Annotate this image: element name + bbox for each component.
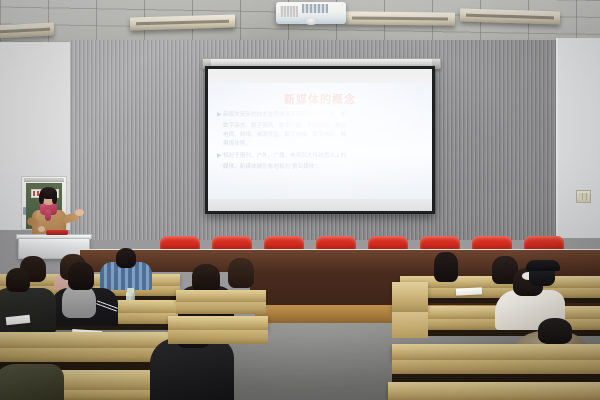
student-head	[228, 258, 254, 288]
right-white-wall	[556, 38, 600, 238]
student-foreground-left	[0, 358, 70, 400]
slide-bullet-2-line-2: 媒体，新媒体被形象地称为“第五媒体”。	[223, 163, 425, 172]
wall-corner-edge	[556, 38, 558, 240]
presenter-hair-left	[39, 192, 44, 204]
student-torso	[0, 364, 64, 400]
projector-lens-icon	[304, 17, 318, 25]
presenter-hair-right	[52, 192, 57, 204]
desk-gap	[392, 374, 600, 382]
desk-center-left[interactable]	[176, 290, 266, 302]
slide-bullet-1-line-4: 摸媒体等。	[223, 140, 425, 149]
student-head	[538, 318, 572, 344]
slide-title: 新媒体的概念	[208, 91, 432, 107]
student-torso	[0, 288, 56, 332]
desk-right-near-front	[392, 360, 600, 374]
presentation-slide: 新媒体的概念 ▶ 新媒体是新的技术支撑体系下出现的媒体形态，如 数字杂志、数字报…	[208, 83, 432, 201]
student-head	[116, 248, 136, 268]
screen-surface: 新媒体的概念 ▶ 新媒体是新的技术支撑体系下出现的媒体形态，如 数字杂志、数字报…	[208, 69, 432, 211]
student-head	[434, 252, 458, 282]
projector-vent	[280, 6, 298, 17]
student-hoodie-gray	[52, 262, 118, 324]
slide-bullet-1-line-2: 数字杂志、数字报纸、数字广播、手机短信、移动	[223, 122, 425, 131]
student-right-long-hair	[424, 252, 470, 284]
presenter-right-hand-gesture	[75, 209, 84, 216]
handout-paper[interactable]	[456, 287, 482, 295]
bottle-cap	[127, 288, 134, 293]
projection-screen: 新媒体的概念 ▶ 新媒体是新的技术支撑体系下出现的媒体形态，如 数字杂志、数字报…	[205, 66, 435, 214]
ceiling-light-2	[345, 11, 455, 25]
student-head	[68, 262, 94, 290]
desk-center-left-2-front	[168, 330, 268, 344]
presenter-left-hand	[38, 226, 45, 232]
light-switch-panel[interactable]	[576, 190, 591, 203]
classroom-scene: 新媒体的概念 ▶ 新媒体是新的技术支撑体系下出现的媒体形态，如 数字杂志、数字报…	[0, 0, 600, 400]
desk-right-foreground[interactable]	[388, 382, 600, 400]
desk-center-left-front	[176, 302, 266, 314]
slide-body: ▶ 新媒体是新的技术支撑体系下出现的媒体形态，如 数字杂志、数字报纸、数字广播、…	[217, 111, 425, 172]
desk-center-right-end[interactable]	[392, 282, 428, 312]
projector-controls	[302, 4, 328, 13]
desk-center-right-side	[392, 312, 428, 338]
red-folder-on-podium[interactable]	[46, 230, 68, 235]
baseball-cap-icon	[526, 260, 560, 271]
screen-blank-area	[208, 199, 432, 211]
desk-center-left-2[interactable]	[168, 316, 268, 330]
door-transom	[24, 178, 64, 182]
projector-body	[276, 2, 346, 24]
slide-bullet-2: ▶ 相对于报刊、户外、广播、电视四大传统意义上的	[217, 152, 425, 161]
desk-right-near[interactable]	[392, 344, 600, 360]
student-head	[6, 268, 30, 292]
slide-bullet-1-line-3: 电视、网络、桌面视窗、数字电视、数字电影、触	[223, 131, 425, 140]
slide-bullet-1: ▶ 新媒体是新的技术支撑体系下出现的媒体形态，如	[217, 111, 425, 120]
projector	[276, 0, 346, 30]
student-head	[192, 264, 220, 292]
student-black-cap	[525, 258, 567, 292]
